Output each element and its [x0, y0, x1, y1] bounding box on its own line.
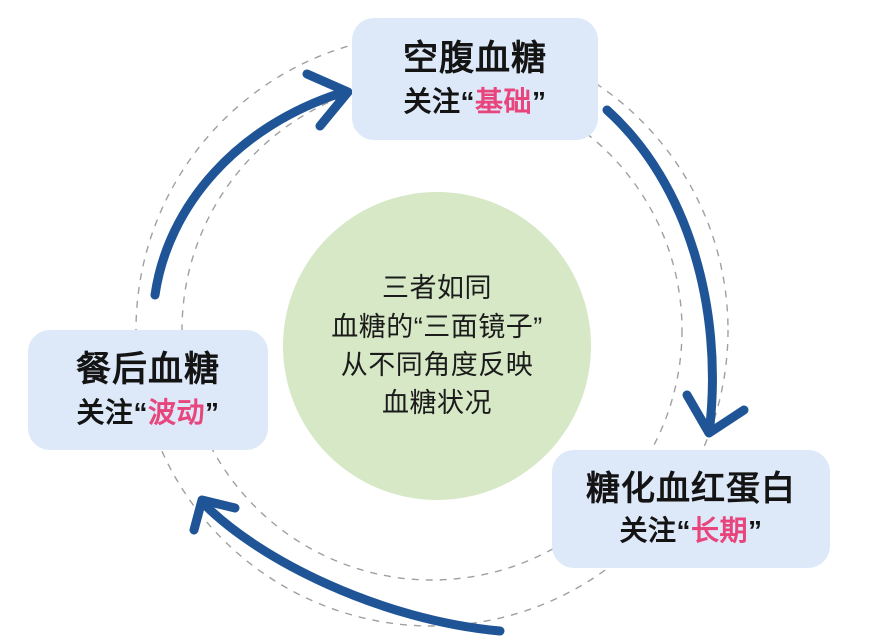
- node-hba1c-sub-prefix: 关注“: [619, 515, 691, 546]
- node-postprandial-subtitle: 关注“波动”: [76, 395, 219, 431]
- node-fasting-blood-glucose[interactable]: 空腹血糖 关注“基础”: [352, 18, 598, 140]
- node-fasting-subtitle: 关注“基础”: [403, 84, 546, 120]
- arrow-to-hba1c: [607, 110, 712, 425]
- node-hba1c-title: 糖化血红蛋白: [586, 469, 796, 510]
- arrow-to-postprandial: [205, 505, 500, 631]
- center-line-4: 血糖状况: [382, 384, 492, 422]
- node-hba1c-subtitle: 关注“长期”: [619, 513, 762, 549]
- node-glycated-hemoglobin[interactable]: 糖化血红蛋白 关注“长期”: [552, 450, 830, 568]
- node-fasting-title: 空腹血糖: [403, 38, 547, 81]
- diagram-canvas: 三者如同 血糖的“三面镜子” 从不同角度反映 血糖状况 空腹血糖 关注“基础” …: [0, 0, 880, 638]
- node-fasting-sub-highlight: 基础: [475, 86, 532, 117]
- node-fasting-sub-prefix: 关注“: [403, 86, 475, 117]
- node-postprandial-sub-suffix: ”: [205, 397, 220, 428]
- center-line-1: 三者如同: [382, 269, 492, 307]
- node-hba1c-sub-suffix: ”: [748, 515, 763, 546]
- node-postprandial-title: 餐后血糖: [76, 349, 220, 392]
- node-hba1c-sub-highlight: 长期: [691, 515, 748, 546]
- node-fasting-sub-suffix: ”: [532, 86, 547, 117]
- node-postprandial-sub-prefix: 关注“: [76, 397, 148, 428]
- center-circle: 三者如同 血糖的“三面镜子” 从不同角度反映 血糖状况: [283, 192, 591, 500]
- center-line-3: 从不同角度反映: [341, 346, 534, 384]
- node-postprandial-blood-glucose[interactable]: 餐后血糖 关注“波动”: [28, 330, 268, 450]
- center-line-2: 血糖的“三面镜子”: [331, 308, 542, 346]
- node-postprandial-sub-highlight: 波动: [148, 397, 205, 428]
